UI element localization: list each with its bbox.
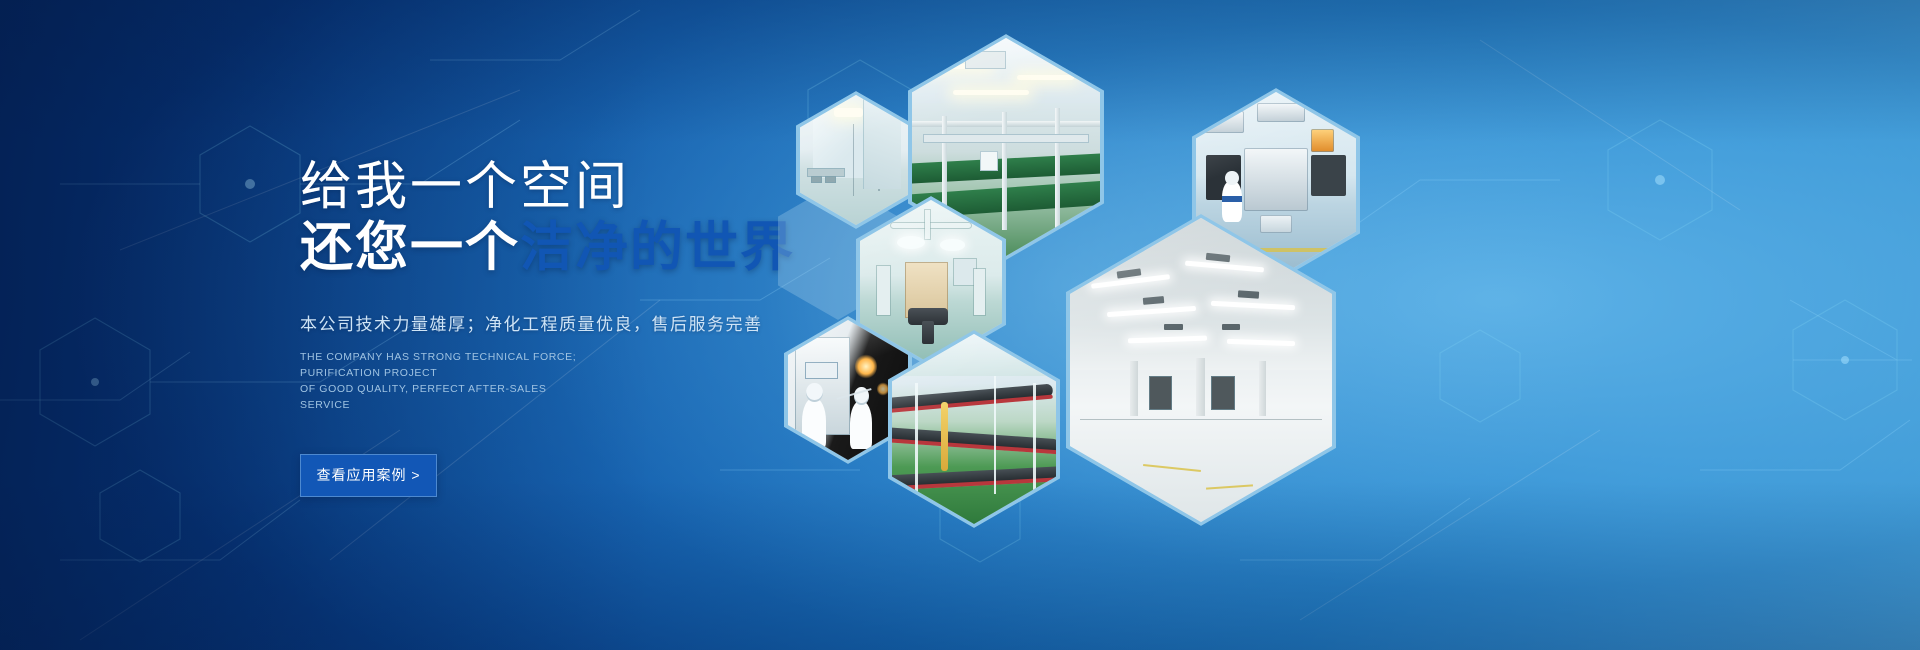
hexagon-gallery bbox=[760, 0, 1920, 650]
view-cases-button[interactable]: 查看应用案例 > bbox=[300, 454, 437, 497]
hero-banner: 给我一个空间 还您一个洁净的世界 本公司技术力量雄厚；净化工程质量优良，售后服务… bbox=[0, 0, 1920, 650]
subtitle-english-line-2: OF GOOD QUALITY, PERFECT AFTER-SALES SER… bbox=[300, 381, 600, 414]
headline-line-2-white: 还您一个 bbox=[300, 218, 520, 277]
headline-line-2-blue: 洁净的世界 bbox=[520, 218, 795, 277]
subtitle-english-line-1: THE COMPANY HAS STRONG TECHNICAL FORCE; … bbox=[300, 349, 600, 382]
subtitle-english: THE COMPANY HAS STRONG TECHNICAL FORCE; … bbox=[300, 349, 600, 414]
